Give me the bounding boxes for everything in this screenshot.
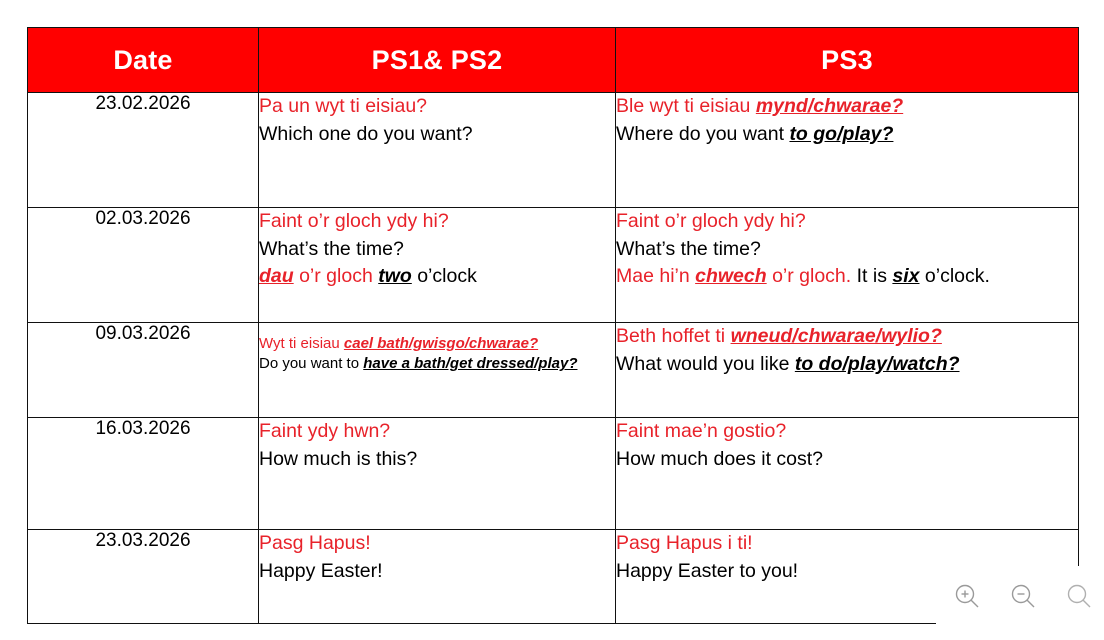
- answer-english-prefix: It is: [857, 265, 893, 287]
- welsh-phrase: Beth hoffet ti wneud/chwarae/wylio?: [616, 323, 1078, 351]
- welsh-phrase: Pasg Hapus i ti!: [616, 530, 1078, 558]
- table-row: 16.03.2026 Faint ydy hwn? How much is th…: [28, 418, 1079, 530]
- answer-english-rest: o’clock.: [920, 265, 990, 287]
- welsh-phrase-prefix: Wyt ti eisiau: [259, 335, 344, 352]
- english-phrase: Where do you want to go/play?: [616, 121, 1078, 149]
- cell-ps1-ps2: Faint ydy hwn? How much is this?: [259, 418, 616, 530]
- cell-date: 02.03.2026: [28, 208, 259, 323]
- answer-phrase: dau o’r gloch two o’clock: [259, 263, 615, 291]
- answer-welsh-underlined: chwech: [695, 265, 767, 287]
- english-phrase: How much is this?: [259, 446, 615, 474]
- table-row: 09.03.2026 Wyt ti eisiau cael bath/gwisg…: [28, 323, 1079, 418]
- cell-ps1-ps2: Pasg Hapus! Happy Easter!: [259, 530, 616, 624]
- welsh-phrase-underlined: mynd/chwarae?: [756, 95, 903, 117]
- cell-ps1-ps2: Wyt ti eisiau cael bath/gwisgo/chwarae? …: [259, 323, 616, 418]
- answer-welsh-rest: o’r gloch: [294, 265, 379, 287]
- column-header-date: Date: [28, 28, 259, 93]
- cell-date: 23.02.2026: [28, 93, 259, 208]
- welsh-phrase-prefix: Beth hoffet ti: [616, 325, 731, 347]
- english-phrase: What’s the time?: [616, 236, 1078, 264]
- english-phrase: What would you like to do/play/watch?: [616, 351, 1078, 379]
- table-row: 02.03.2026 Faint o’r gloch ydy hi? What’…: [28, 208, 1079, 323]
- zoom-controls-toolbar: [936, 566, 1104, 626]
- welsh-phrase: Wyt ti eisiau cael bath/gwisgo/chwarae?: [259, 334, 615, 354]
- cell-ps1-ps2: Faint o’r gloch ydy hi? What’s the time?…: [259, 208, 616, 323]
- cell-date: 16.03.2026: [28, 418, 259, 530]
- english-phrase: What’s the time?: [259, 236, 615, 264]
- answer-welsh-rest: o’r gloch.: [767, 265, 857, 287]
- cell-ps3: Faint mae’n gostio? How much does it cos…: [616, 418, 1079, 530]
- table-row: 23.03.2026 Pasg Hapus! Happy Easter! Pas…: [28, 530, 1079, 624]
- welsh-phrase-underlined: wneud/chwarae/wylio?: [731, 325, 942, 347]
- table-row: 23.02.2026 Pa un wyt ti eisiau? Which on…: [28, 93, 1079, 208]
- answer-english-underlined: six: [892, 265, 919, 287]
- welsh-phrase-prefix: Ble wyt ti eisiau: [616, 95, 756, 117]
- answer-welsh-underlined: dau: [259, 265, 294, 287]
- english-phrase: Do you want to have a bath/get dressed/p…: [259, 354, 615, 374]
- column-header-ps1-ps2: PS1& PS2: [259, 28, 616, 93]
- table-body: 23.02.2026 Pa un wyt ti eisiau? Which on…: [28, 93, 1079, 624]
- english-phrase-prefix: What would you like: [616, 353, 795, 375]
- welsh-phrase-underlined: cael bath/gwisgo/chwarae?: [344, 335, 538, 352]
- welsh-phrase: Pasg Hapus!: [259, 530, 615, 558]
- cell-date: 23.03.2026: [28, 530, 259, 624]
- english-phrase-underlined: have a bath/get dressed/play?: [363, 355, 577, 372]
- english-phrase-underlined: to do/play/watch?: [795, 353, 960, 375]
- answer-english-rest: o’clock: [412, 265, 477, 287]
- answer-welsh-prefix: Mae hi’n: [616, 265, 695, 287]
- zoom-out-icon[interactable]: [1008, 581, 1038, 611]
- welsh-phrase: Faint mae’n gostio?: [616, 418, 1078, 446]
- welsh-phrase: Pa un wyt ti eisiau?: [259, 93, 615, 121]
- magnifier-icon[interactable]: [1064, 581, 1094, 611]
- english-phrase-prefix: Do you want to: [259, 355, 363, 372]
- column-header-ps3: PS3: [616, 28, 1079, 93]
- english-phrase-underlined: to go/play?: [789, 123, 893, 145]
- cell-ps3: Ble wyt ti eisiau mynd/chwarae? Where do…: [616, 93, 1079, 208]
- cell-date: 09.03.2026: [28, 323, 259, 418]
- english-phrase: How much does it cost?: [616, 446, 1078, 474]
- welsh-phrase: Faint o’r gloch ydy hi?: [616, 208, 1078, 236]
- english-phrase: Which one do you want?: [259, 121, 615, 149]
- welsh-phrase: Faint o’r gloch ydy hi?: [259, 208, 615, 236]
- table-header: Date PS1& PS2 PS3: [28, 28, 1079, 93]
- cell-ps3: Beth hoffet ti wneud/chwarae/wylio? What…: [616, 323, 1079, 418]
- answer-english-underlined: two: [378, 265, 412, 287]
- english-phrase-prefix: Where do you want: [616, 123, 789, 145]
- english-phrase: Happy Easter!: [259, 558, 615, 586]
- welsh-phrase: Ble wyt ti eisiau mynd/chwarae?: [616, 93, 1078, 121]
- slide-canvas: Date PS1& PS2 PS3 23.02.2026 Pa un wyt t…: [0, 0, 1104, 640]
- cell-ps1-ps2: Pa un wyt ti eisiau? Which one do you wa…: [259, 93, 616, 208]
- cell-ps3: Faint o’r gloch ydy hi? What’s the time?…: [616, 208, 1079, 323]
- table-header-row: Date PS1& PS2 PS3: [28, 28, 1079, 93]
- welsh-phrase: Faint ydy hwn?: [259, 418, 615, 446]
- answer-phrase: Mae hi’n chwech o’r gloch. It is six o’c…: [616, 263, 1078, 291]
- zoom-in-icon[interactable]: [952, 581, 982, 611]
- phrase-schedule-table: Date PS1& PS2 PS3 23.02.2026 Pa un wyt t…: [27, 27, 1079, 624]
